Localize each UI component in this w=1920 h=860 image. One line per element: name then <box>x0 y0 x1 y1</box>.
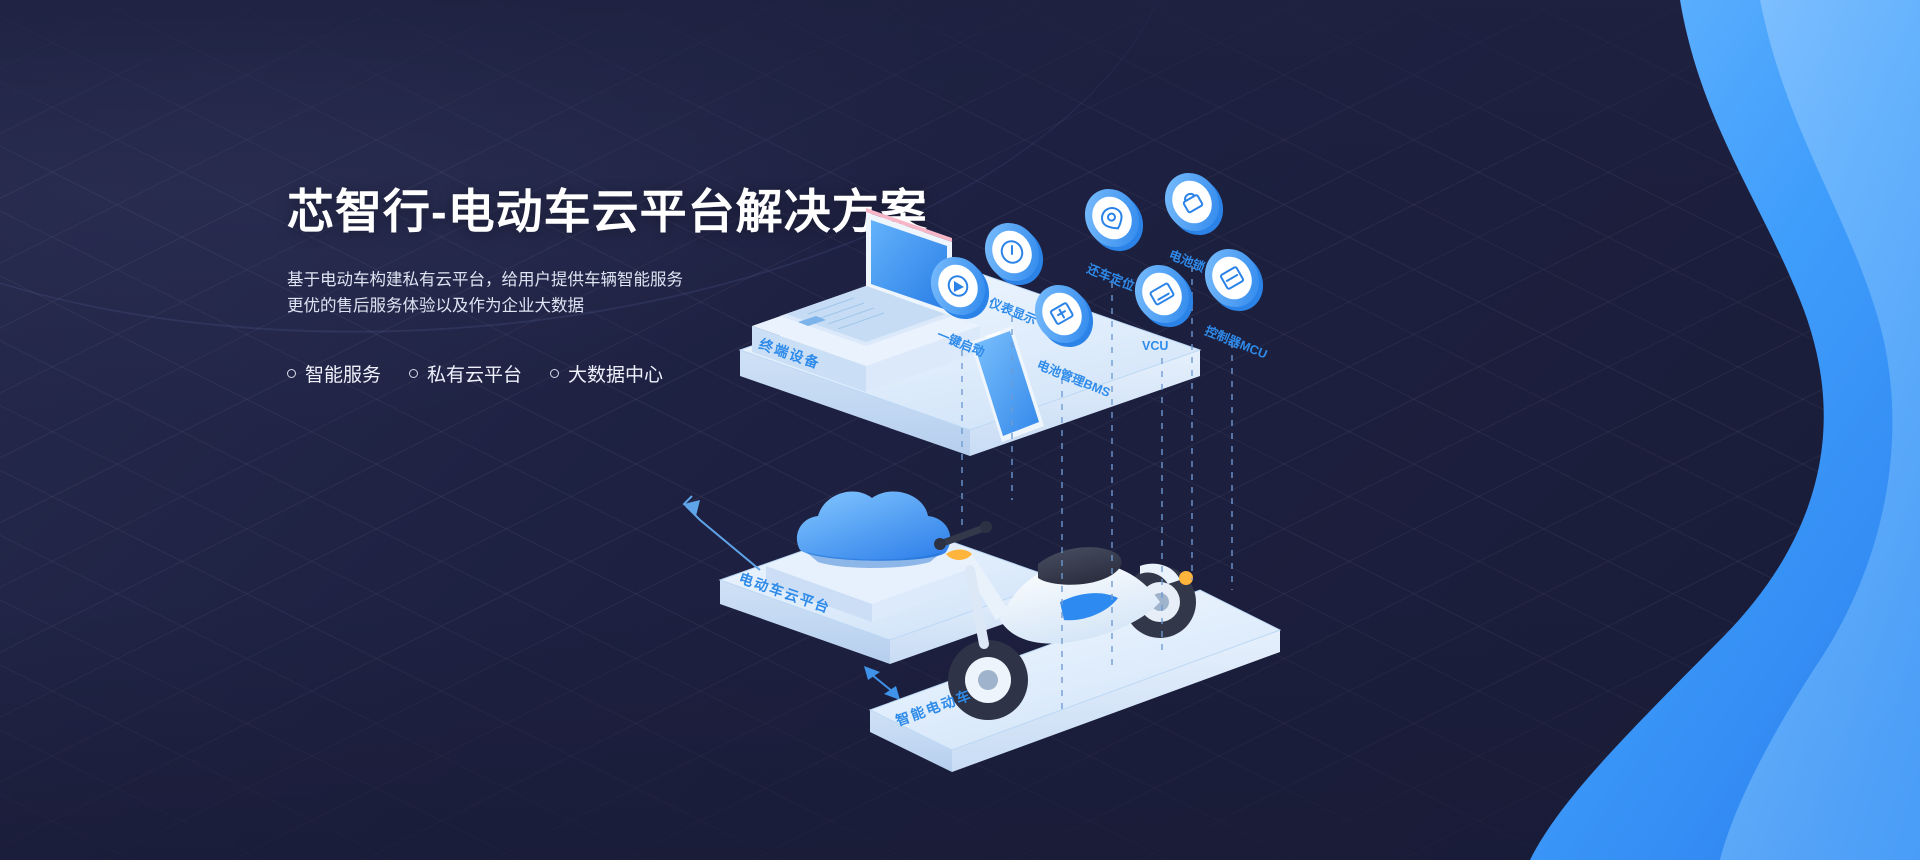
feature-item-0[interactable]: 智能服务 <box>287 360 381 387</box>
badge-mcu[interactable]: 控制器MCU <box>1194 239 1273 361</box>
feature-label-1: 私有云平台 <box>427 360 522 387</box>
cloud-icon <box>797 492 950 568</box>
feature-item-1[interactable]: 私有云平台 <box>409 360 522 387</box>
arrow-double-icon <box>864 666 900 700</box>
badge-label-6: 控制器MCU <box>1203 323 1270 362</box>
circle-bullet-icon <box>287 369 296 378</box>
isometric-illustration: 终端设备 电动车云平台 <box>640 150 1920 850</box>
arrow-up-left-icon <box>684 496 760 570</box>
banner-root: 芯智行-电动车云平台解决方案 基于电动车构建私有云平台，给用户提供车辆智能服务 … <box>0 0 1920 860</box>
badge-label-3: 还车定位 <box>1084 260 1137 293</box>
cloud-platform-group: 电动车云平台 <box>720 492 1060 664</box>
illustration-svg: 终端设备 电动车云平台 <box>640 150 1920 850</box>
feature-label-0: 智能服务 <box>305 360 381 387</box>
circle-bullet-icon <box>409 369 418 378</box>
circle-bullet-icon <box>550 369 559 378</box>
badge-label-4: VCU <box>1142 339 1168 353</box>
